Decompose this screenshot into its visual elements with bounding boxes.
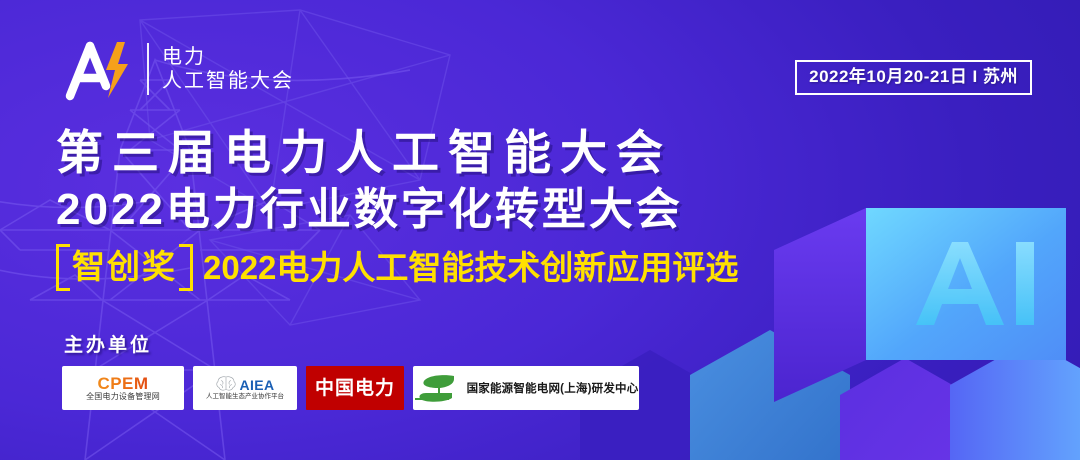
award-tag: 智创奖	[56, 246, 193, 289]
award-line: 智创奖 2022电力人工智能技术创新应用评选	[56, 246, 876, 289]
brain-icon	[215, 375, 237, 392]
cpem-wordmark: CPEM	[97, 375, 148, 392]
headline-block: 第三届电力人工智能大会 2022电力行业数字化转型大会 智创奖 2022电力人工…	[56, 126, 876, 289]
sub-title: 2022电力行业数字化转型大会	[56, 183, 876, 237]
main-title: 第三届电力人工智能大会	[56, 126, 876, 181]
event-logo: 电力 人工智能大会	[62, 34, 294, 104]
sponsors-heading: 主办单位	[64, 330, 152, 357]
logo-divider	[147, 43, 149, 95]
ai-logo-mark-icon	[62, 36, 134, 102]
aiea-wordmark: AIEA	[239, 378, 274, 392]
national-energy-smart-grid-name: 国家能源智能电网(上海)研发中心	[467, 380, 639, 396]
date-location-badge: 2022年10月20-21日 I 苏州	[795, 60, 1032, 95]
sponsor-logo-aiea[interactable]: AIEA 人工智能生态产业协作平台	[193, 366, 297, 410]
aiea-top-row: AIEA	[215, 375, 274, 392]
china-electric-power-wordmark: 中国电力	[315, 379, 395, 398]
cpem-subtitle: 全国电力设备管理网	[86, 393, 160, 401]
sponsor-logo-cpem[interactable]: CPEM 全国电力设备管理网	[62, 366, 184, 410]
aiea-subtitle: 人工智能生态产业协作平台	[206, 393, 284, 400]
logo-line-2: 人工智能大会	[162, 71, 294, 92]
logo-wordmark: 电力 人工智能大会	[162, 47, 294, 92]
green-s-mark-icon	[414, 373, 458, 403]
logo-line-1: 电力	[162, 47, 294, 68]
award-title: 2022电力人工智能技术创新应用评选	[203, 248, 738, 288]
conference-banner: 电力 人工智能大会 2022年10月20-21日 I 苏州 第三届电力人工智能大…	[0, 0, 1080, 460]
sponsor-logo-national-energy-smart-grid[interactable]: 国家能源智能电网(上海)研发中心	[413, 366, 639, 410]
sponsor-logo-row: CPEM 全国电力设备管理网 AIEA 人工智能生态产业协作平台	[62, 366, 639, 410]
sponsor-logo-china-electric-power[interactable]: 中国电力	[306, 366, 404, 410]
